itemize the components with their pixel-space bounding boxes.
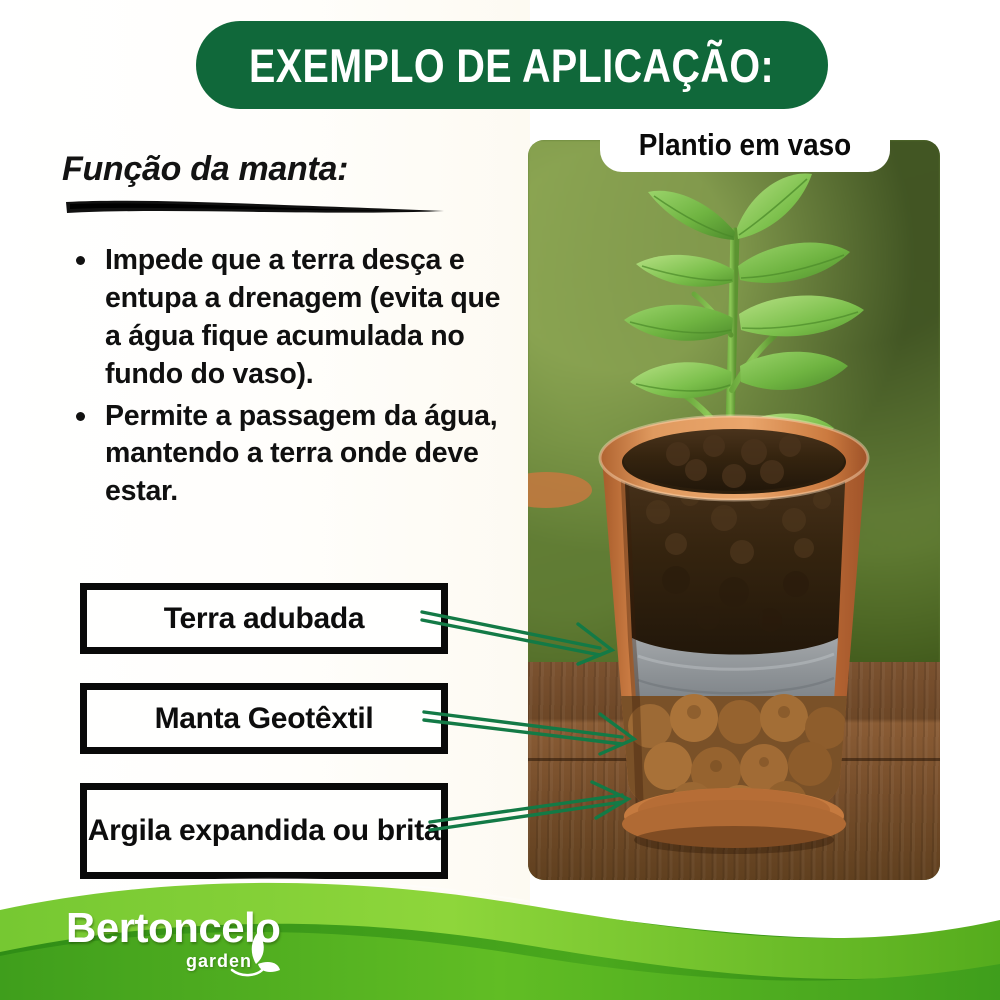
callout-label: Terra adubada	[164, 601, 365, 636]
callout-box-terra-adubada[interactable]: Terra adubada	[80, 583, 448, 654]
bullet-dot-icon	[76, 412, 85, 421]
bullet-dot-icon	[76, 256, 85, 265]
leaf-icon	[228, 926, 282, 980]
brush-underline-decoration	[64, 196, 446, 218]
callout-label: Manta Geotêxtil	[155, 701, 374, 736]
callout-box-manta-geotextil[interactable]: Manta Geotêxtil	[80, 683, 448, 754]
section-heading: Função da manta:	[62, 150, 348, 189]
photo-caption-chip: Plantio em vaso	[600, 118, 890, 172]
page-title: EXEMPLO DE APLICAÇÃO:	[249, 38, 774, 93]
list-item: Impede que a terra desça e entupa a dren…	[66, 242, 506, 394]
list-item: Permite a passagem da água, mantendo a t…	[66, 398, 506, 512]
function-bullet-list: Impede que a terra desça e entupa a dren…	[66, 242, 506, 515]
terracotta-pot	[528, 140, 940, 880]
bullet-text: Permite a passagem da água, mantendo a t…	[105, 398, 506, 512]
callout-label: Argila expandida ou brita	[88, 813, 441, 848]
pot-cross-section-photo	[528, 140, 940, 880]
bullet-text: Impede que a terra desça e entupa a dren…	[105, 242, 506, 394]
photo-caption: Plantio em vaso	[639, 127, 851, 163]
header-banner: EXEMPLO DE APLICAÇÃO:	[196, 21, 828, 109]
